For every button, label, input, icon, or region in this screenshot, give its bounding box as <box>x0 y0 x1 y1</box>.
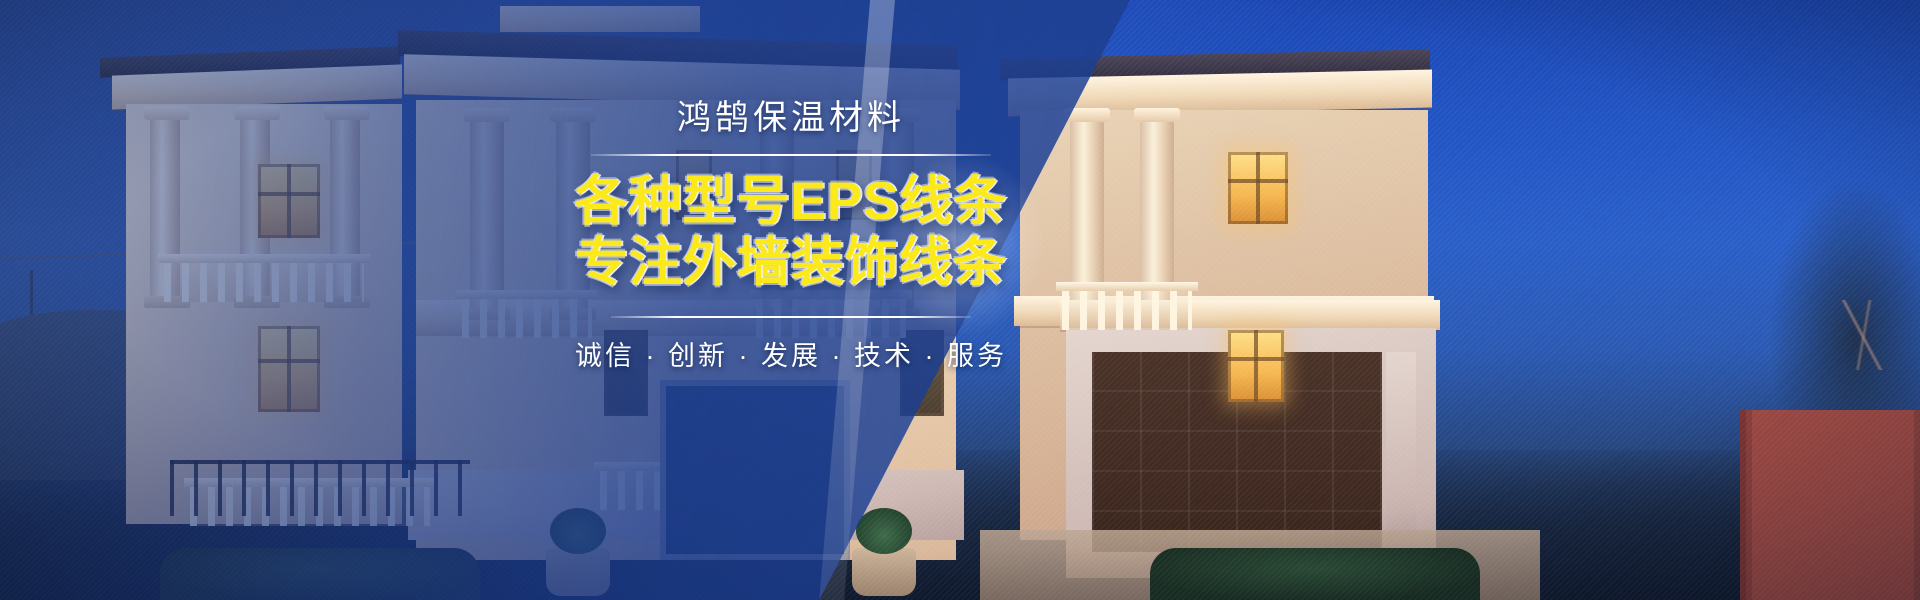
headline-line-2: 专注外墙装饰线条 <box>556 233 1026 294</box>
lit-window <box>1228 152 1288 224</box>
lit-window <box>1228 330 1284 402</box>
headline-line-1: 各种型号EPS线条 <box>556 172 1026 233</box>
potted-shrub <box>852 548 916 596</box>
brand-name: 鸿鹄保温材料 <box>556 96 1026 140</box>
divider-bottom <box>611 316 971 318</box>
balustrade <box>1062 290 1192 330</box>
banner-text-block: 鸿鹄保温材料 各种型号EPS线条 专注外墙装饰线条 诚信 · 创新 · 发展 ·… <box>556 96 1026 373</box>
shipping-container <box>1740 410 1920 600</box>
headline: 各种型号EPS线条 专注外墙装饰线条 <box>556 172 1026 294</box>
garage-side-wall <box>1386 352 1416 552</box>
tagline: 诚信 · 创新 · 发展 · 技术 · 服务 <box>556 334 1026 373</box>
hedge <box>1150 548 1480 600</box>
divider-top <box>591 154 991 156</box>
promo-banner: 鸿鹄保温材料 各种型号EPS线条 专注外墙装饰线条 诚信 · 创新 · 发展 ·… <box>0 0 1920 600</box>
